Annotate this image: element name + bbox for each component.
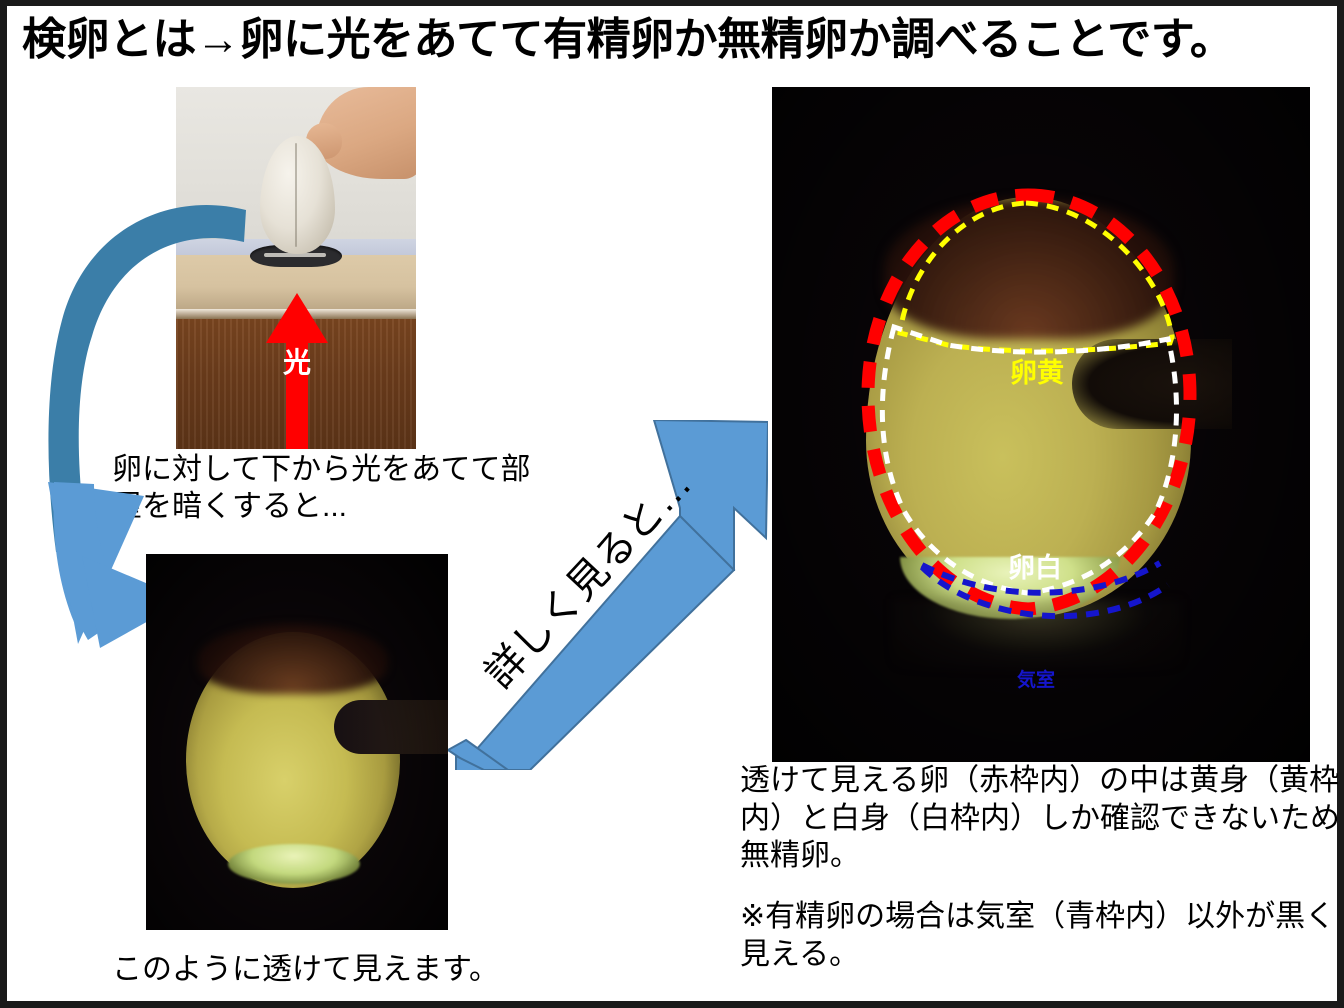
diagonal-arrow-body [448, 420, 768, 770]
photo-vignette [146, 554, 448, 930]
slide-border-left [0, 0, 7, 1008]
label-air-cell: 気室 [1017, 665, 1055, 692]
light-arrow-head [266, 293, 328, 343]
label-yolk: 卵黄 [1010, 351, 1064, 390]
candled-egg-dark-room-photo [146, 554, 448, 930]
light-arrow-label: 光 [266, 349, 328, 377]
slide-title: 検卵とは→卵に光をあてて有精卵か無精卵か調べることです。 [22, 16, 1272, 64]
caption-bottom-left: このように透けて見えます。 [112, 944, 499, 988]
light-arrow-up: 光 [266, 293, 328, 449]
diagonal-arrow-detail: 詳しく見ると… [448, 420, 768, 770]
label-albumen: 卵白 [1008, 546, 1062, 585]
slide-border-top [0, 0, 1344, 6]
slide-canvas: 検卵とは→卵に光をあてて有精卵か無精卵か調べることです。 光 卵に対して下から光… [0, 0, 1344, 1008]
explanation-text-fertile-note: ※有精卵の場合は気室（青枠内）以外が黒く見える。 [740, 898, 1340, 973]
slide-border-bottom [0, 1001, 1344, 1008]
candled-egg-annotated-photo: 卵黄 卵白 気室 1番（♀）、8番（♂）ペアの卵 [772, 87, 1310, 762]
explanation-text-infertile: 透けて見える卵（赤枠内）の中は黄身（黄枠内）と白身（白枠内）しか確認できないため… [740, 762, 1340, 875]
